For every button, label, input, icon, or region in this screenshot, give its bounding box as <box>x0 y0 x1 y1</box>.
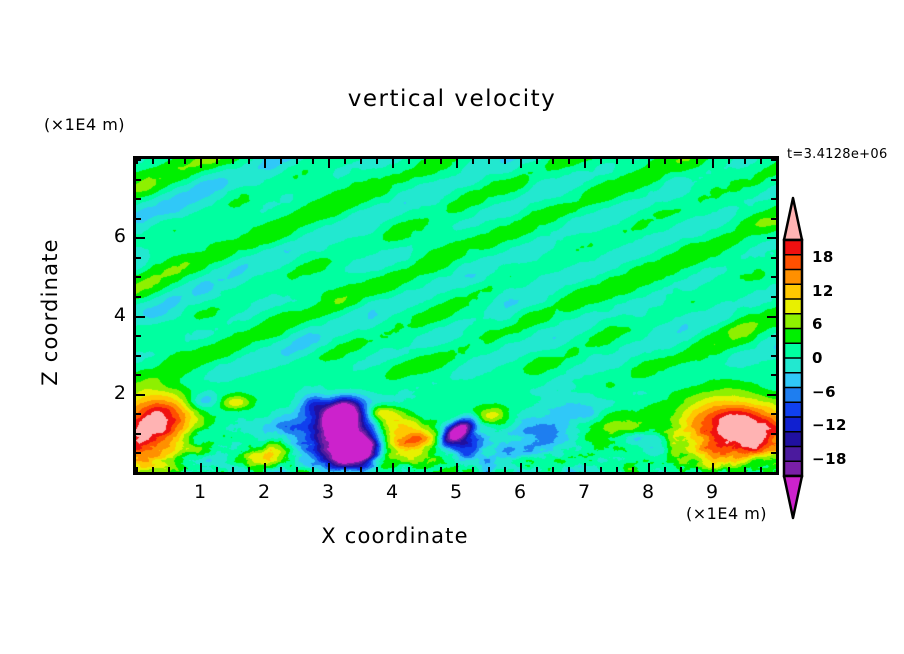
tick-mark <box>600 467 602 472</box>
tick-mark <box>136 433 141 435</box>
tick-mark <box>767 237 776 239</box>
tick-mark <box>456 463 458 472</box>
tick-mark <box>767 316 776 318</box>
tick-mark <box>264 159 266 168</box>
tick-mark <box>664 467 666 472</box>
tick-mark <box>200 463 202 472</box>
tick-mark <box>392 463 394 472</box>
tick-mark <box>168 159 170 164</box>
tick-mark <box>184 467 186 472</box>
tick-mark <box>440 159 442 164</box>
tick-mark <box>232 467 234 472</box>
x-axis-units: (×1E4 m) <box>686 504 767 523</box>
tick-mark <box>504 467 506 472</box>
tick-mark <box>568 159 570 164</box>
tick-mark <box>136 335 141 337</box>
tick-mark <box>200 159 202 168</box>
plot-area <box>133 156 779 475</box>
tick-mark <box>136 452 141 454</box>
tick-mark <box>520 159 522 168</box>
x-tick-label: 6 <box>505 481 535 503</box>
tick-mark <box>152 159 154 164</box>
tick-mark <box>728 467 730 472</box>
tick-mark <box>424 467 426 472</box>
colorbar-tick-label: 0 <box>812 349 823 367</box>
x-tick-label: 9 <box>697 481 727 503</box>
tick-mark <box>536 467 538 472</box>
tick-mark <box>344 467 346 472</box>
y-axis-title: Z coordinate <box>38 202 62 422</box>
x-axis-title: X coordinate <box>0 524 790 548</box>
tick-mark <box>632 467 634 472</box>
tick-mark <box>568 467 570 472</box>
x-tick-label: 2 <box>249 481 279 503</box>
tick-mark <box>728 159 730 164</box>
tick-mark <box>771 452 776 454</box>
tick-mark <box>744 159 746 164</box>
tick-mark <box>136 413 141 415</box>
tick-mark <box>408 467 410 472</box>
tick-mark <box>136 198 141 200</box>
tick-mark <box>771 198 776 200</box>
tick-mark <box>771 218 776 220</box>
page-title: vertical velocity <box>0 86 904 112</box>
tick-mark <box>712 159 714 168</box>
tick-mark <box>648 159 650 168</box>
tick-mark <box>712 463 714 472</box>
tick-mark <box>328 159 330 168</box>
tick-mark <box>648 463 650 472</box>
tick-mark <box>136 374 141 376</box>
tick-mark <box>216 467 218 472</box>
tick-mark <box>680 467 682 472</box>
tick-mark <box>504 159 506 164</box>
tick-mark <box>136 159 141 161</box>
tick-mark <box>136 355 141 357</box>
tick-mark <box>616 159 618 164</box>
tick-mark <box>264 463 266 472</box>
tick-mark <box>771 296 776 298</box>
tick-mark <box>488 467 490 472</box>
tick-mark <box>168 467 170 472</box>
tick-mark <box>696 467 698 472</box>
colorbar-tick-label: 18 <box>812 248 834 266</box>
tick-mark <box>536 159 538 164</box>
tick-mark <box>456 159 458 168</box>
tick-mark <box>488 159 490 164</box>
tick-mark <box>616 467 618 472</box>
tick-mark <box>392 159 394 168</box>
tick-mark <box>600 159 602 164</box>
tick-mark <box>760 159 762 164</box>
tick-mark <box>744 467 746 472</box>
tick-mark <box>552 159 554 164</box>
x-tick-label: 8 <box>633 481 663 503</box>
tick-mark <box>776 467 778 472</box>
tick-mark <box>280 159 282 164</box>
tick-mark <box>771 257 776 259</box>
tick-mark <box>216 159 218 164</box>
tick-mark <box>664 159 666 164</box>
tick-mark <box>632 159 634 164</box>
tick-mark <box>584 159 586 168</box>
contour-field <box>136 159 776 472</box>
x-tick-label: 7 <box>569 481 599 503</box>
tick-mark <box>136 394 145 396</box>
tick-mark <box>771 374 776 376</box>
tick-mark <box>520 463 522 472</box>
tick-mark <box>376 159 378 164</box>
tick-mark <box>376 467 378 472</box>
colorbar-tick-label: −6 <box>812 383 836 401</box>
tick-mark <box>472 467 474 472</box>
y-tick-label: 2 <box>104 382 126 404</box>
tick-mark <box>771 159 776 161</box>
colorbar <box>781 196 805 520</box>
tick-mark <box>424 159 426 164</box>
tick-mark <box>136 257 141 259</box>
tick-mark <box>767 394 776 396</box>
tick-mark <box>360 467 362 472</box>
tick-mark <box>296 467 298 472</box>
tick-mark <box>248 467 250 472</box>
tick-mark <box>680 159 682 164</box>
colorbar-tick-label: 6 <box>812 315 823 333</box>
tick-mark <box>776 159 778 164</box>
tick-mark <box>360 159 362 164</box>
colorbar-tick-label: −18 <box>812 450 847 468</box>
tick-mark <box>696 159 698 164</box>
colorbar-tick-label: 12 <box>812 282 834 300</box>
tick-mark <box>760 467 762 472</box>
tick-mark <box>248 159 250 164</box>
tick-mark <box>184 159 186 164</box>
tick-mark <box>771 433 776 435</box>
tick-mark <box>312 159 314 164</box>
tick-mark <box>136 296 141 298</box>
tick-mark <box>440 467 442 472</box>
tick-mark <box>296 159 298 164</box>
tick-mark <box>408 159 410 164</box>
tick-mark <box>136 316 145 318</box>
timestamp-label: t=3.4128e+06 <box>787 147 888 162</box>
tick-mark <box>312 467 314 472</box>
tick-mark <box>771 472 776 474</box>
tick-mark <box>771 276 776 278</box>
x-tick-label: 1 <box>185 481 215 503</box>
tick-mark <box>472 159 474 164</box>
y-tick-label: 4 <box>104 304 126 326</box>
y-axis-units: (×1E4 m) <box>44 115 125 134</box>
tick-mark <box>771 355 776 357</box>
tick-mark <box>280 467 282 472</box>
tick-mark <box>771 335 776 337</box>
x-tick-label: 5 <box>441 481 471 503</box>
tick-mark <box>136 276 141 278</box>
tick-mark <box>328 463 330 472</box>
x-tick-label: 4 <box>377 481 407 503</box>
tick-mark <box>584 463 586 472</box>
tick-mark <box>232 159 234 164</box>
tick-mark <box>136 179 141 181</box>
tick-mark <box>771 413 776 415</box>
x-tick-label: 3 <box>313 481 343 503</box>
tick-mark <box>552 467 554 472</box>
tick-mark <box>136 472 141 474</box>
y-tick-label: 6 <box>104 225 126 247</box>
tick-mark <box>771 179 776 181</box>
tick-mark <box>136 237 145 239</box>
tick-mark <box>136 218 141 220</box>
colorbar-tick-label: −12 <box>812 416 847 434</box>
tick-mark <box>152 467 154 472</box>
tick-mark <box>344 159 346 164</box>
